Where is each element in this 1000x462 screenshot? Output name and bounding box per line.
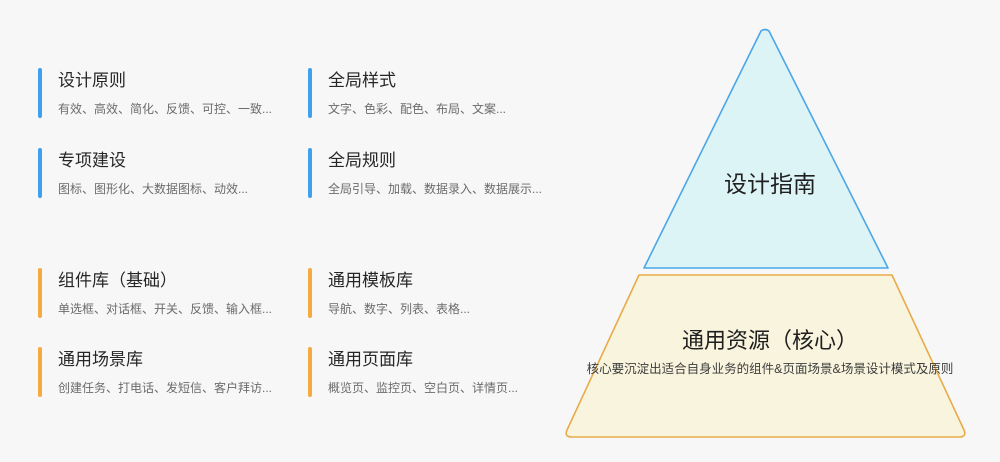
card-design-principles[interactable]: 设计原则 有效、高效、简化、反馈、可控、一致... [38, 68, 288, 118]
card-description: 有效、高效、简化、反馈、可控、一致... [58, 101, 288, 118]
card-description: 文字、色彩、配色、布局、文案... [328, 101, 558, 118]
pyramid-top-shape[interactable] [644, 30, 888, 269]
card-column-right: 全局样式 文字、色彩、配色、布局、文案... 全局规则 全局引导、加载、数据录入… [308, 0, 558, 462]
pyramid-svg [540, 0, 1000, 462]
card-body: 通用场景库 创建任务、打电话、发短信、客户拜访... [58, 347, 288, 397]
card-description: 全局引导、加载、数据录入、数据展示... [328, 181, 558, 198]
card-title: 全局规则 [328, 149, 558, 173]
card-title: 通用场景库 [58, 348, 288, 372]
card-body: 组件库（基础） 单选框、对话框、开关、反馈、输入框... [58, 268, 288, 318]
card-title: 设计原则 [58, 69, 288, 93]
card-title: 组件库（基础） [58, 269, 288, 293]
accent-bar-icon [38, 268, 42, 318]
card-common-scenario-library[interactable]: 通用场景库 创建任务、打电话、发短信、客户拜访... [38, 347, 288, 397]
card-title: 通用页面库 [328, 348, 558, 372]
card-description: 创建任务、打电话、发短信、客户拜访... [58, 380, 288, 397]
accent-bar-icon [308, 268, 312, 318]
card-title: 全局样式 [328, 69, 558, 93]
card-common-template-library[interactable]: 通用模板库 导航、数字、列表、表格... [308, 268, 558, 318]
card-description: 图标、图形化、大数据图标、动效... [58, 181, 288, 198]
accent-bar-icon [38, 68, 42, 118]
category-cards-panel: 设计原则 有效、高效、简化、反馈、可控、一致... 专项建设 图标、图形化、大数… [0, 0, 540, 462]
accent-bar-icon [38, 148, 42, 198]
card-special-construction[interactable]: 专项建设 图标、图形化、大数据图标、动效... [38, 148, 288, 198]
accent-bar-icon [38, 347, 42, 397]
card-body: 专项建设 图标、图形化、大数据图标、动效... [58, 148, 288, 198]
pyramid-diagram: 设计指南 通用资源（核心） 核心要沉淀出适合自身业务的组件&页面场景&场景设计模… [540, 0, 1000, 462]
card-column-left: 设计原则 有效、高效、简化、反馈、可控、一致... 专项建设 图标、图形化、大数… [38, 0, 288, 462]
card-body: 全局样式 文字、色彩、配色、布局、文案... [328, 68, 558, 118]
card-global-rules[interactable]: 全局规则 全局引导、加载、数据录入、数据展示... [308, 148, 558, 198]
pyramid-base-shape[interactable] [566, 275, 965, 437]
card-global-styles[interactable]: 全局样式 文字、色彩、配色、布局、文案... [308, 68, 558, 118]
card-body: 通用模板库 导航、数字、列表、表格... [328, 268, 558, 318]
accent-bar-icon [308, 347, 312, 397]
card-common-page-library[interactable]: 通用页面库 概览页、监控页、空白页、详情页... [308, 347, 558, 397]
card-description: 单选框、对话框、开关、反馈、输入框... [58, 301, 288, 318]
accent-bar-icon [308, 148, 312, 198]
card-description: 概览页、监控页、空白页、详情页... [328, 380, 558, 397]
accent-bar-icon [308, 68, 312, 118]
card-body: 设计原则 有效、高效、简化、反馈、可控、一致... [58, 68, 288, 118]
card-description: 导航、数字、列表、表格... [328, 301, 558, 318]
card-title: 专项建设 [58, 149, 288, 173]
card-title: 通用模板库 [328, 269, 558, 293]
card-body: 通用页面库 概览页、监控页、空白页、详情页... [328, 347, 558, 397]
card-component-library-basic[interactable]: 组件库（基础） 单选框、对话框、开关、反馈、输入框... [38, 268, 288, 318]
card-body: 全局规则 全局引导、加载、数据录入、数据展示... [328, 148, 558, 198]
